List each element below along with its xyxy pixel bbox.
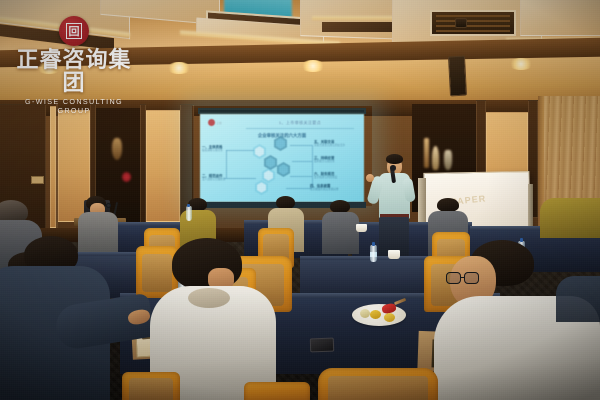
projection-screen: 正睿 1、上市审核关注要点 企业审核关注的六大方面 五、关联交易 关联方资金占用…	[200, 114, 364, 202]
leader-left-2	[224, 178, 256, 179]
hex-node-document	[277, 162, 290, 177]
niche-vase-right-3	[444, 150, 452, 170]
attendee-back-1-glasses	[106, 203, 115, 208]
hex-node-chart	[262, 168, 275, 183]
downlight-2	[166, 62, 192, 74]
leader-right-1	[290, 145, 312, 146]
ceiling-coffer-far-right	[520, 0, 600, 36]
leader-right-2	[292, 161, 312, 162]
watermark-logo: 回 正睿咨询集团 G-WISE CONSULTING GROUP	[14, 16, 134, 115]
slide-label-left-2: 二、规范运作 法人治理与合规经营	[202, 174, 225, 182]
ceiling-speaker-mount	[455, 18, 467, 28]
leader-right-3	[290, 176, 312, 177]
slide-label-right-4: 四、信息披露 信息披露的真实准确完整	[310, 184, 339, 192]
ceiling-air-vent	[430, 10, 516, 36]
hex-node-minus	[255, 180, 268, 195]
downlight-3	[300, 60, 326, 72]
hex-node-question	[274, 136, 287, 151]
niche-vase-left	[112, 138, 122, 160]
ceiling-speaker	[448, 56, 467, 97]
leader-left-1	[226, 150, 254, 151]
presenter-microphone-head	[390, 165, 396, 171]
hex-node-gear	[253, 144, 266, 159]
slide-label-left-1: 一、主体资格 股权清晰与独立性	[202, 145, 223, 153]
teacup-back-2[interactable]	[356, 224, 367, 232]
attendee-fg-6-shoulder	[556, 276, 600, 322]
attendee-fg-3-glasses	[446, 272, 480, 284]
smartphone[interactable]	[310, 338, 334, 353]
slide-label-right-1-detail: 关联方资金占用与同业竞争	[314, 144, 345, 147]
presenter-left-hand	[366, 174, 374, 182]
attendee-back-5-shirt	[322, 212, 359, 254]
niche-vase-right-2	[432, 146, 439, 170]
ceiling-recess-center-right	[322, 22, 402, 32]
attendee-back-4-hair	[437, 198, 459, 212]
fruit-pineapple-2	[384, 313, 395, 322]
water-bottle-back-1[interactable]	[370, 242, 377, 262]
watermark-company-name-en: G-WISE CONSULTING GROUP	[14, 97, 134, 115]
slide-label-right-2: 三、持续经营 盈利能力与成长性	[314, 156, 335, 164]
watermark-badge: 回	[59, 16, 89, 46]
wall-panel-tan-2	[146, 110, 180, 222]
slide-hexagon-diagram: 五、关联交易 关联方资金占用与同业竞争 三、持续经营 盈利能力与成长性 六、财务…	[200, 114, 364, 202]
fruit-melon	[360, 309, 370, 318]
downlight-4	[508, 58, 534, 70]
presenter-hair	[386, 154, 403, 164]
chair-foreground-center[interactable]	[318, 368, 438, 400]
wall-switch-plate[interactable]	[31, 176, 44, 184]
slide-label-right-4-detail: 信息披露的真实准确完整	[310, 188, 339, 191]
slide-label-right-3: 六、财务规范 会计核算与内控制度	[314, 172, 337, 180]
fruit-pineapple-1	[370, 310, 381, 319]
slide-label-right-1: 五、关联交易 关联方资金占用与同业竞争	[314, 140, 345, 148]
leader-right-4	[286, 188, 312, 189]
conference-room-photo: 正睿 1、上市审核关注要点 企业审核关注的六大方面 五、关联交易 关联方资金占用…	[0, 0, 600, 400]
watermark-company-name-cn: 正睿咨询集团	[14, 49, 134, 95]
niche-flower-left	[122, 172, 131, 182]
leader-left-spine	[226, 150, 227, 178]
attendee-fg-2-collar	[188, 288, 230, 308]
slide-label-left-2-detail: 法人治理与合规经营	[202, 178, 225, 181]
slide-label-left-1-detail: 股权清晰与独立性	[202, 149, 223, 152]
teacup-back[interactable]	[388, 250, 400, 259]
chair-foreground-left[interactable]	[122, 372, 180, 400]
leader-right-spine	[312, 145, 313, 188]
chair-foreground-right[interactable]	[244, 382, 310, 400]
slide-label-right-3-detail: 会计核算与内控制度	[314, 176, 337, 179]
attendee-far-right-shoulder	[540, 198, 600, 238]
slide-label-right-2-detail: 盈利能力与成长性	[314, 160, 335, 163]
niche-vase-right-1	[424, 138, 429, 168]
watermark-seal-glyph: 回	[66, 23, 82, 39]
hex-node-shield	[264, 155, 277, 170]
water-bottle-back-2[interactable]	[186, 204, 192, 221]
